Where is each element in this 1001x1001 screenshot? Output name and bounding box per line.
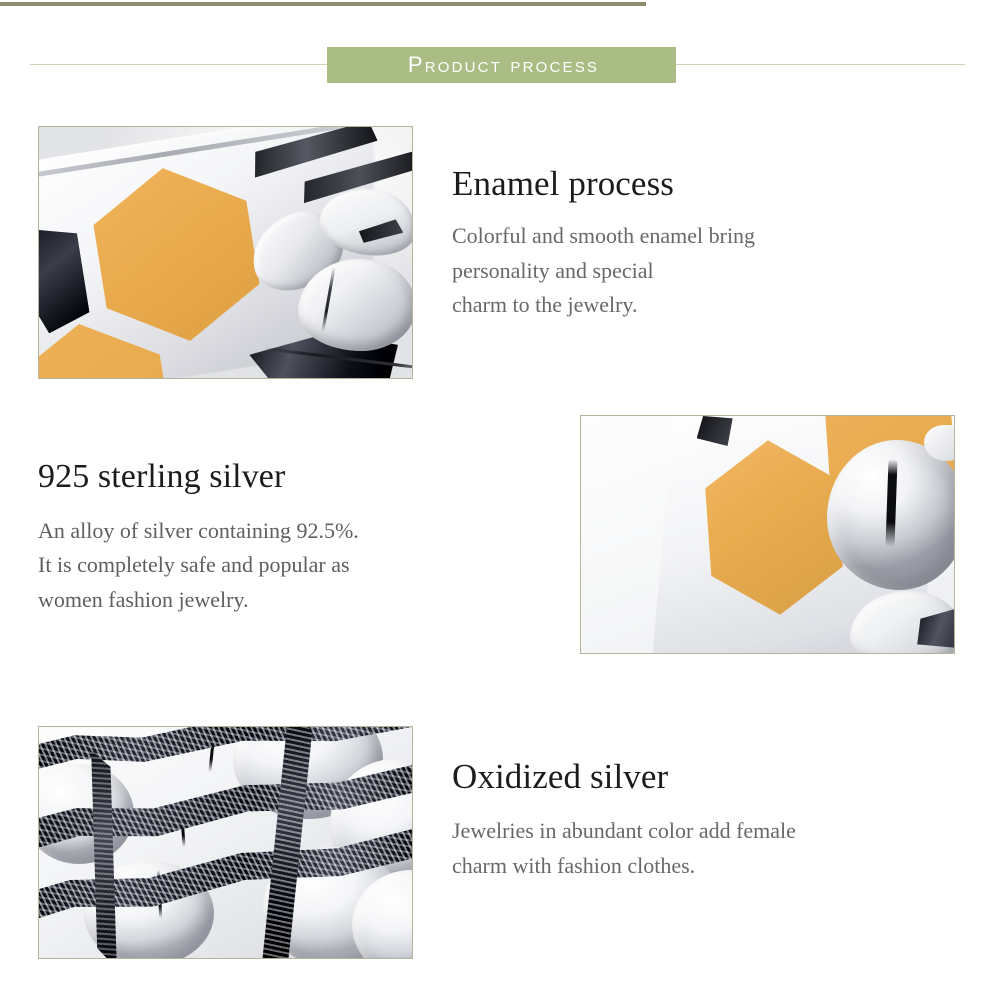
product-photo-sterling-silver-content [581, 416, 954, 653]
section-enamel-title: Enamel process [452, 164, 922, 203]
product-photo-oxidized-silver [38, 726, 413, 959]
section-header-label: Product process [404, 54, 599, 76]
section-enamel-body: Colorful and smooth enamel bring persona… [452, 219, 922, 322]
section-oxidized-silver-title: Oxidized silver [452, 757, 942, 796]
product-photo-enamel [38, 126, 413, 379]
section-sterling-silver-title: 925 sterling silver [38, 458, 508, 496]
product-photo-enamel-content [39, 127, 412, 378]
section-header: Product process [0, 47, 1001, 84]
section-sterling-silver-text: 925 sterling silver An alloy of silver c… [38, 458, 508, 617]
product-photo-sterling-silver [580, 415, 955, 654]
product-photo-oxidized-silver-content [39, 727, 412, 958]
section-header-banner: Product process [327, 47, 676, 83]
silver-bee-figure [248, 182, 412, 357]
section-enamel-text: Enamel process Colorful and smooth ename… [452, 164, 922, 322]
section-oxidized-silver-body: Jewelries in abundant color add female c… [452, 814, 942, 883]
section-sterling-silver-body: An alloy of silver containing 92.5%. It … [38, 514, 508, 617]
top-accent-bar [0, 2, 646, 6]
section-oxidized-silver-text: Oxidized silver Jewelries in abundant co… [452, 757, 942, 883]
